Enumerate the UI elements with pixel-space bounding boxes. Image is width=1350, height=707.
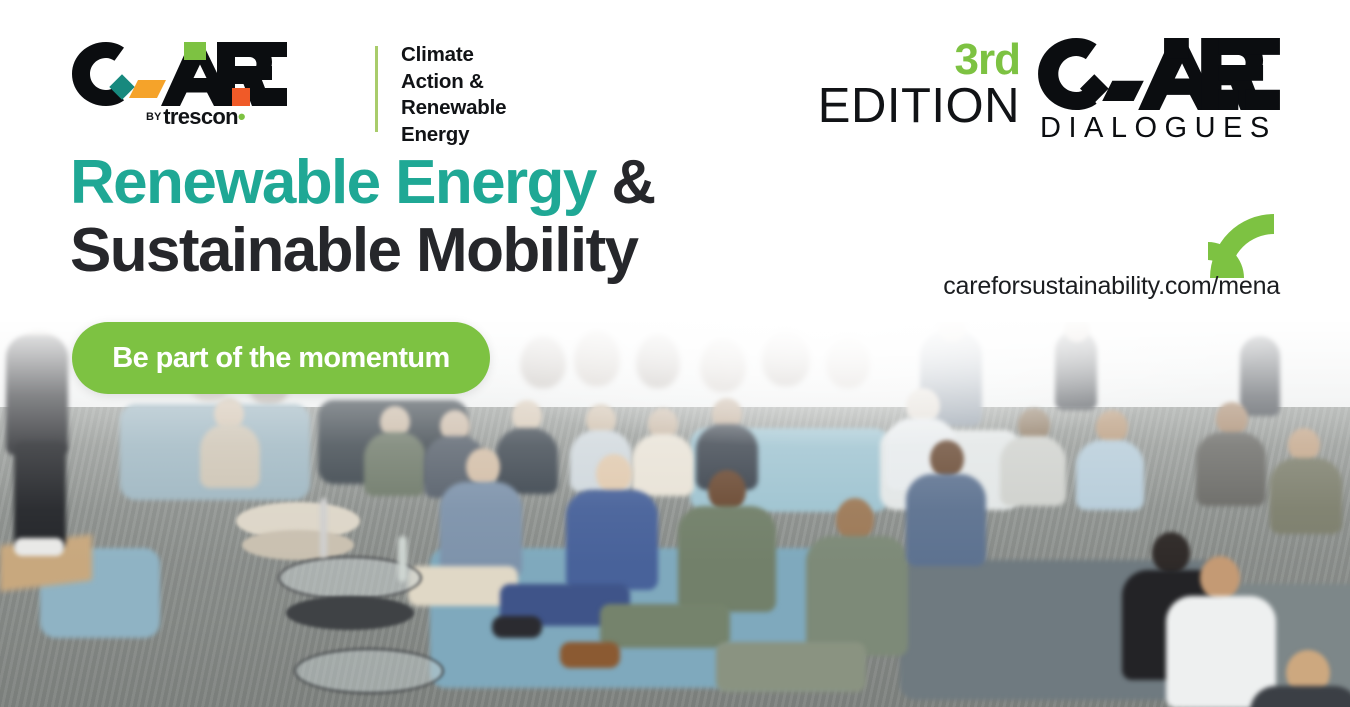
care-logo-mark [72, 42, 287, 106]
trescon-byline: BYtrescon• [146, 104, 245, 130]
event-banner: BYtrescon• Climate Action & Renewable En… [0, 0, 1350, 707]
care-dialogues-logo[interactable]: DIALOGUES [1038, 38, 1283, 146]
headline-highlight: Renewable Energy [70, 148, 596, 217]
cta-label: Be part of the momentum [112, 342, 449, 375]
edition-badge: 3rd EDITION [845, 38, 1020, 148]
care-dialogues-mark [1038, 38, 1280, 110]
signal-icon [1198, 202, 1282, 280]
edition-label: EDITION [818, 82, 1020, 131]
be-part-of-the-momentum-button[interactable]: Be part of the momentum [72, 322, 490, 394]
presenter-body [6, 335, 68, 455]
by-label: BY [146, 111, 161, 123]
edition-ordinal: 3rd [955, 38, 1020, 82]
presenter-legs [14, 440, 66, 550]
presenter-shoes [14, 538, 64, 556]
page-title: Renewable Energy & Sustainable Mobility [70, 152, 655, 282]
trescon-wordmark: trescon [163, 104, 238, 129]
logo-divider [375, 46, 378, 132]
care-trescon-logo[interactable]: BYtrescon• Climate Action & Renewable En… [72, 42, 442, 134]
headline-line1-rest: & [596, 148, 655, 217]
dialogues-subtitle: DIALOGUES [1040, 114, 1277, 143]
trescon-dot: • [238, 104, 245, 129]
website-url[interactable]: careforsustainability.com/mena [943, 272, 1280, 301]
headline-line2: Sustainable Mobility [70, 220, 655, 282]
brand-tagline: Climate Action & Renewable Energy [401, 42, 506, 149]
